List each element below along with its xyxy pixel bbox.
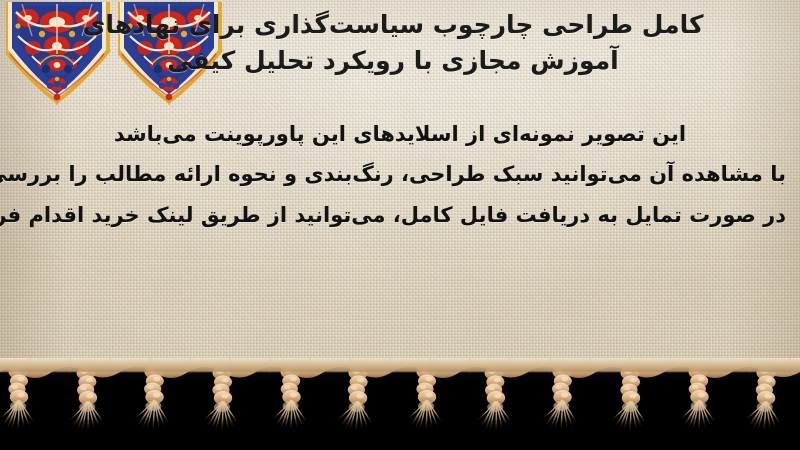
slide-title: کامل طراحی چارچوب سیاست‌گذاری برای نهاده…	[0, 7, 800, 78]
body-line-3: در صورت تمایل به دریافت فایل کامل، می‌تو…	[14, 195, 786, 235]
title-line-2: آموزش مجازی با رویکرد تحلیل کیفی	[12, 43, 774, 79]
slide-canvas: کامل طراحی چارچوب سیاست‌گذاری برای نهاده…	[0, 0, 800, 450]
slide-body: این تصویر نمونه‌ای از اسلایدهای این پاور…	[0, 114, 800, 235]
body-line-1: این تصویر نمونه‌ای از اسلایدهای این پاور…	[14, 114, 786, 154]
title-line-1: کامل طراحی چارچوب سیاست‌گذاری برای نهاده…	[12, 7, 774, 43]
body-line-2: با مشاهده آن می‌توانید سبک طراحی، رنگ‌بن…	[14, 154, 786, 194]
carpet-lower-edge	[0, 358, 800, 372]
carpet-fringe	[0, 358, 800, 450]
